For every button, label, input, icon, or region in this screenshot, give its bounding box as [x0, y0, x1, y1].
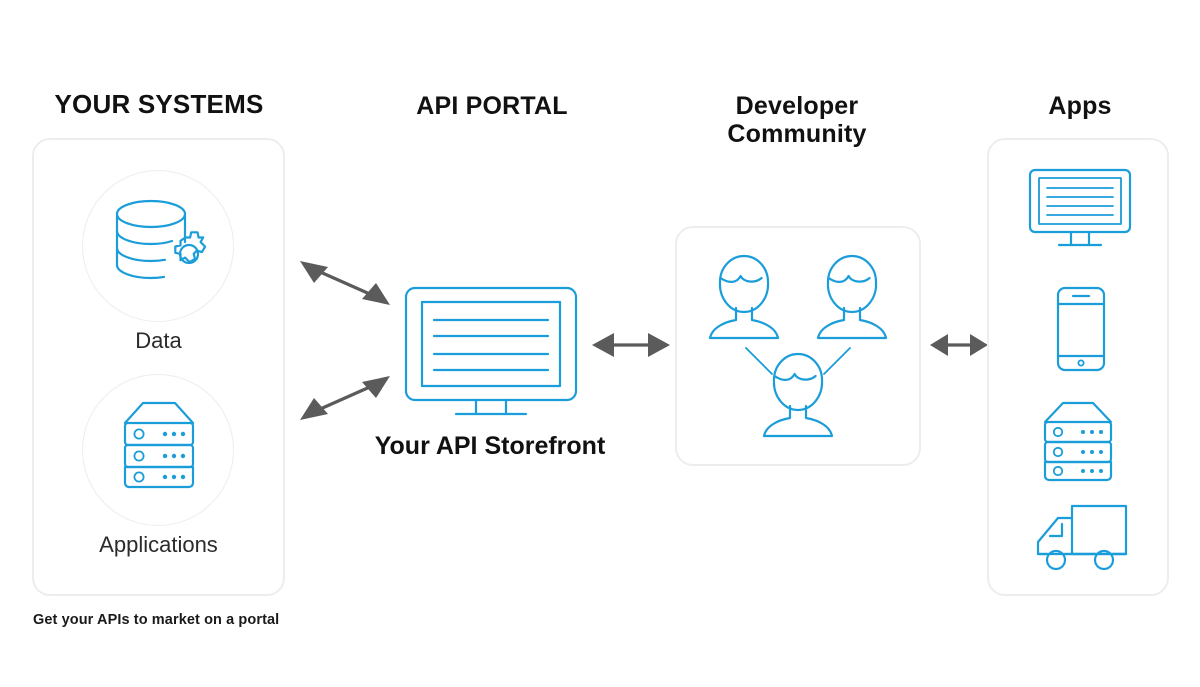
column-heading-apps: Apps — [990, 92, 1170, 120]
connector-systems-to-portal-upper — [298, 255, 394, 311]
person-icon — [818, 256, 886, 338]
server-rack-icon — [1035, 398, 1127, 488]
footer-caption: Get your APIs to market on a portal — [33, 612, 279, 628]
diagram-canvas: YOUR SYSTEMS API PORTAL Developer Commun… — [0, 0, 1200, 687]
database-gear-icon — [104, 190, 216, 302]
connector-portal-to-community — [590, 328, 672, 362]
person-icon — [764, 354, 832, 436]
column-heading-your-systems: YOUR SYSTEMS — [30, 90, 288, 119]
monitor-icon — [1026, 166, 1134, 252]
smartphone-icon — [1053, 284, 1109, 374]
monitor-icon — [400, 282, 590, 422]
connector-community-to-apps — [928, 328, 990, 362]
column-heading-api-portal: API PORTAL — [360, 92, 624, 120]
server-rack-icon — [113, 397, 205, 497]
delivery-truck-icon — [1028, 500, 1132, 576]
tile-label-applications: Applications — [32, 532, 285, 558]
person-icon — [710, 256, 778, 338]
three-people-icon — [700, 250, 896, 446]
connector-systems-to-portal-lower — [298, 370, 394, 426]
tile-label-data: Data — [32, 328, 285, 354]
api-storefront-caption: Your API Storefront — [340, 432, 640, 461]
column-heading-developer-community: Developer Community — [678, 92, 916, 148]
